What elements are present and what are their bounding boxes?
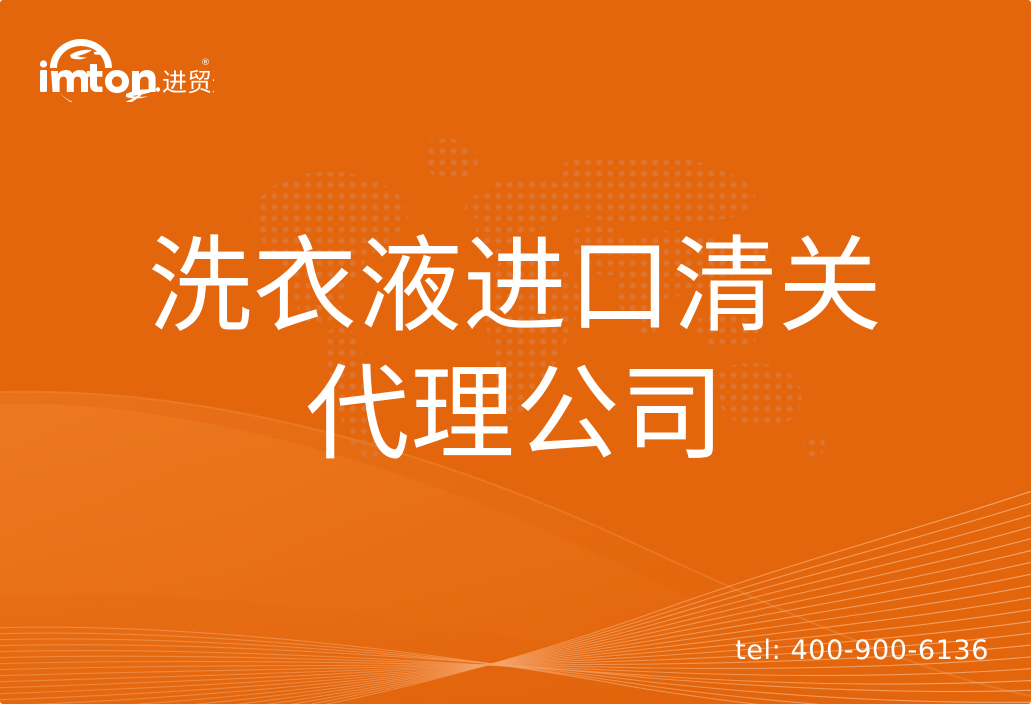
company-logo[interactable]: 进贸通 ®: [34, 28, 214, 102]
trademark-icon: ®: [201, 58, 210, 68]
page-title-line-2: 代理公司: [0, 350, 1031, 478]
logo-chinese-name-glyphs: 进贸通: [162, 68, 214, 97]
contact-phone[interactable]: tel: 400-900-6136: [735, 635, 989, 666]
logo-wordmark-shape: [40, 60, 156, 93]
page-title-line-1: 洗衣液进口清关: [0, 222, 1031, 350]
globe-arc-icon: [50, 39, 112, 68]
page-title: 洗衣液进口清关 代理公司: [0, 222, 1031, 478]
promo-banner: 进贸通 ®: [0, 0, 1031, 704]
